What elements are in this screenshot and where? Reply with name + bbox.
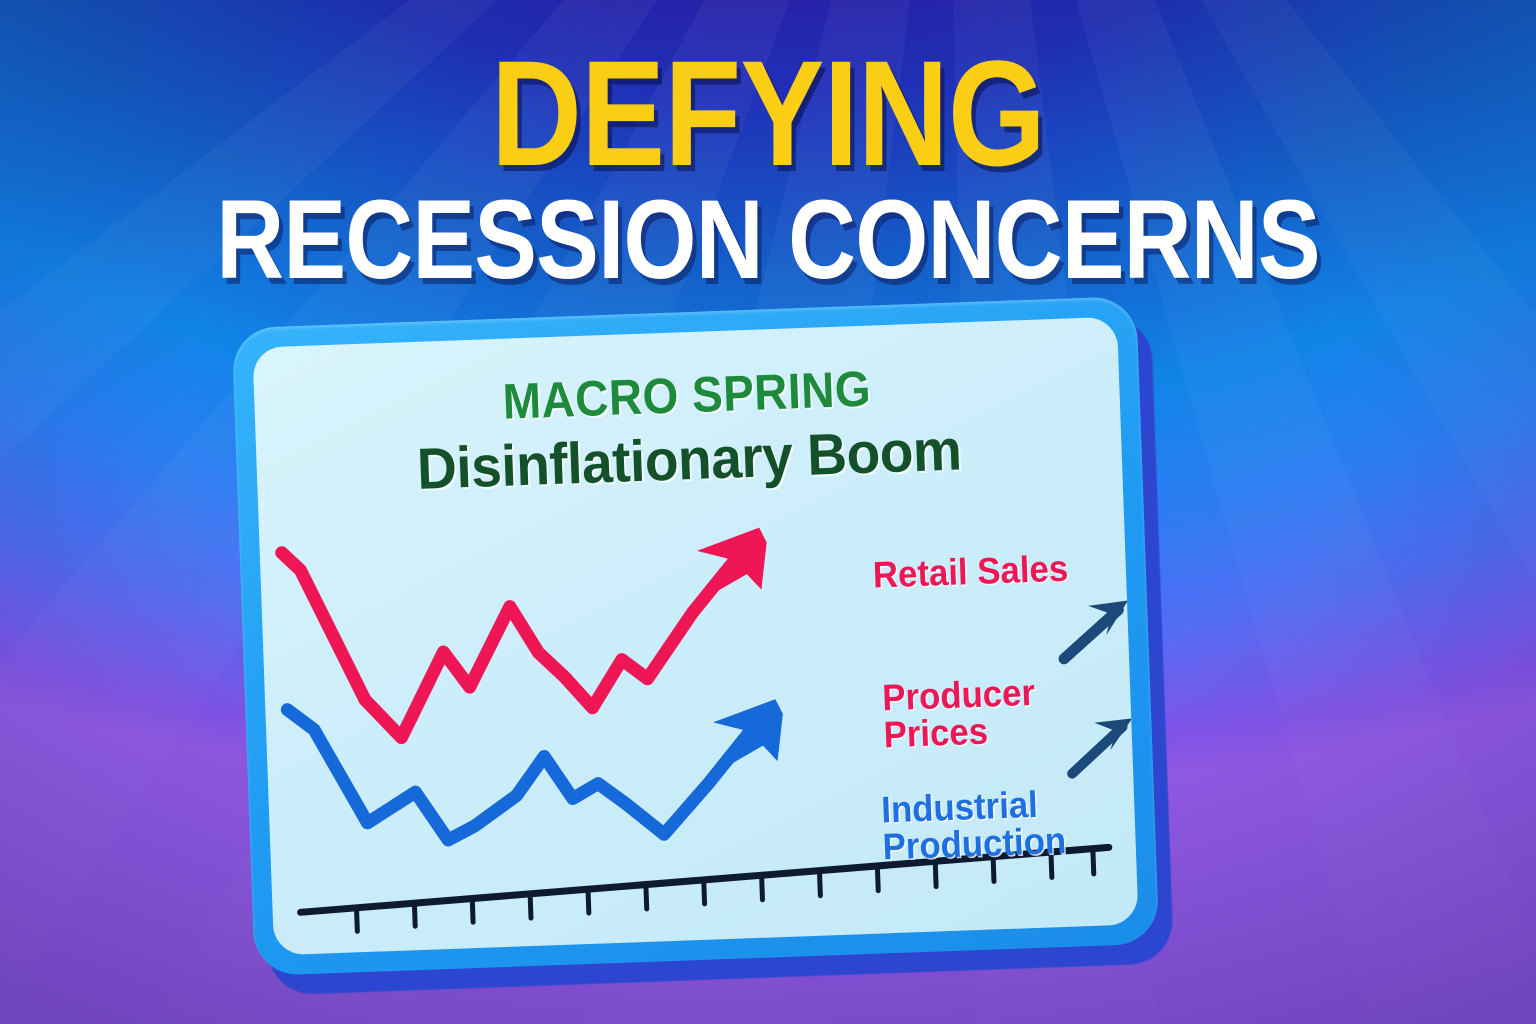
chart-card-panel: MACRO SPRING Disinflationary Boom (252, 317, 1138, 956)
series-line-retail-sales (282, 537, 742, 742)
legend-label-producer-prices: Producer Prices (882, 671, 1118, 753)
chart-card: MACRO SPRING Disinflationary Boom (232, 296, 1160, 976)
series-line-industrial-production (287, 693, 754, 847)
poster-title-block: DEFYING RECESSION CONCERNS (0, 44, 1536, 291)
series-arrowhead-retail-sales (696, 527, 768, 593)
legend-label-retail-sales: Retail Sales (872, 550, 1068, 594)
arrow-up-right-icon-1 (1062, 601, 1130, 659)
poster-canvas: DEFYING RECESSION CONCERNS MACRO SPRING … (0, 0, 1536, 1024)
poster-title-line-2: RECESSION CONCERNS (123, 188, 1413, 291)
legend-label-industrial-production: Industrial Production (881, 785, 1067, 866)
poster-title-line-1: DEFYING (123, 44, 1413, 182)
